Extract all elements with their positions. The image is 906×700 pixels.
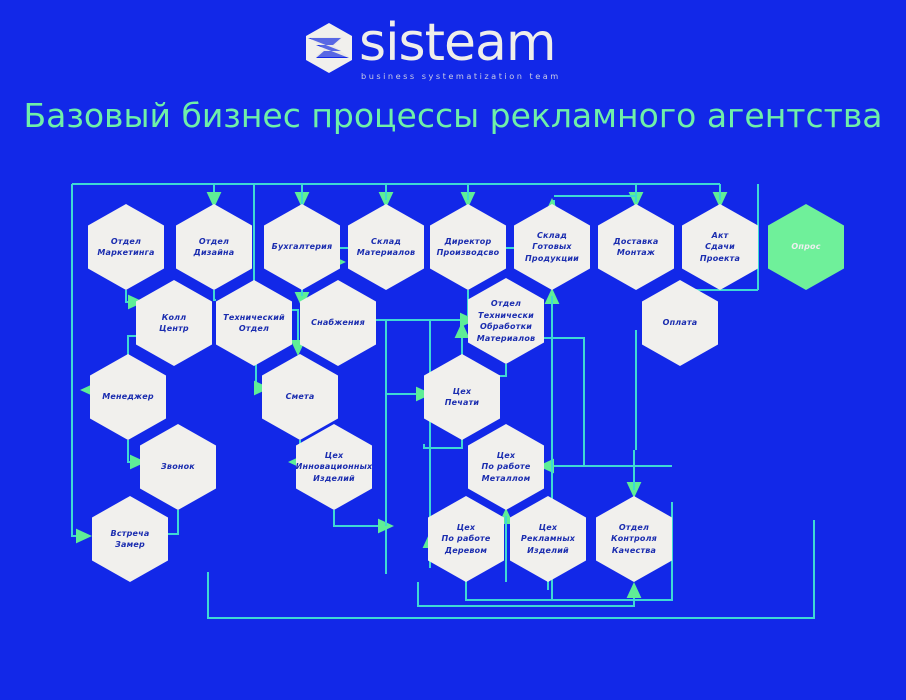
node-label: Опрос bbox=[787, 241, 824, 253]
node-label: СкладМатериалов bbox=[353, 236, 420, 259]
node-label: Оплата bbox=[659, 317, 702, 329]
node-label: Смета bbox=[282, 391, 319, 403]
node-label: Снабжения bbox=[307, 317, 369, 329]
node-label: ОтделТехническиОбработкиМатериалов bbox=[473, 298, 540, 344]
connector-layer bbox=[0, 0, 906, 700]
node-label: ЦехИнновационныхИзделий bbox=[292, 450, 377, 485]
node-label: Звонок bbox=[157, 461, 199, 473]
node-label: ОтделКонтроляКачества bbox=[607, 522, 661, 557]
node-label: ВстречаЗамер bbox=[107, 528, 154, 551]
node-label: Менеджер bbox=[98, 391, 158, 403]
node-label: СкладГотовыхПродукции bbox=[521, 230, 583, 265]
node-label: ЦехПечати bbox=[441, 386, 483, 409]
node-label: ОтделДизайна bbox=[190, 236, 239, 259]
node-label: ТехническийОтдел bbox=[219, 312, 289, 335]
node-label: ЦехПо работеДеревом bbox=[437, 522, 494, 557]
node-label: ДиректорПроизводсво bbox=[433, 236, 504, 259]
node-label: ЦехРекламныхИзделий bbox=[517, 522, 579, 557]
node-label: АктСдачиПроекта bbox=[696, 230, 744, 265]
slide-canvas: sisteam business systematization team Ба… bbox=[0, 0, 906, 700]
node-label: ДоставкаМонтаж bbox=[610, 236, 663, 259]
node-label: ЦехПо работеМеталлом bbox=[477, 450, 534, 485]
node-label: КоллЦентр bbox=[155, 312, 193, 335]
node-label: Бухгалтерия bbox=[268, 241, 337, 253]
node-label: ОтделМаркетинга bbox=[93, 236, 158, 259]
